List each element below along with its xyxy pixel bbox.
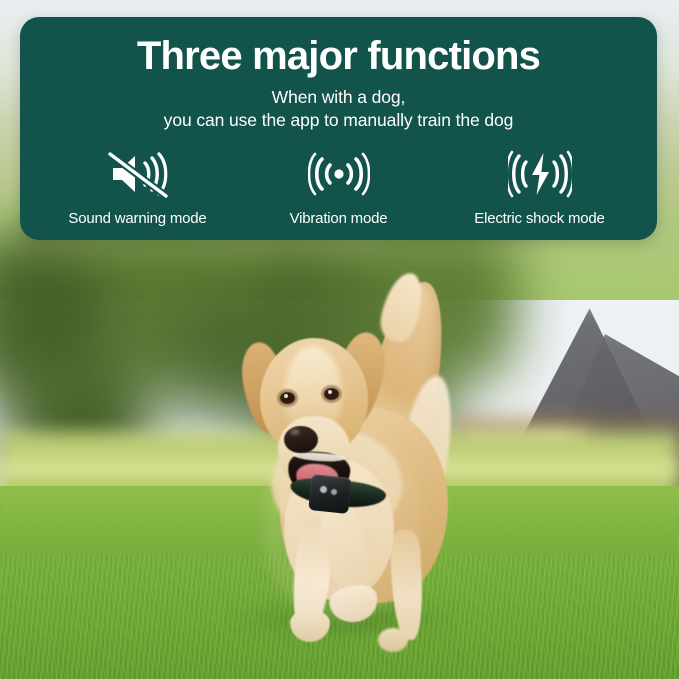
collar-receiver-unit bbox=[308, 474, 352, 514]
mode-label-vibration: Vibration mode bbox=[290, 210, 388, 227]
dog-nose-highlight bbox=[290, 429, 300, 435]
subtitle-line-2: you can use the app to manually train th… bbox=[164, 109, 514, 132]
mode-label-electric-shock: Electric shock mode bbox=[474, 210, 604, 227]
product-image: Three major functions When with a dog, y… bbox=[0, 0, 679, 679]
dog-eye-highlight-right bbox=[328, 390, 332, 394]
mode-list: Sound warning mode bbox=[20, 149, 657, 227]
mode-item-sound-warning: Sound warning mode bbox=[50, 149, 225, 227]
page-title: Three major functions bbox=[137, 35, 540, 77]
collar-contact-point-right bbox=[331, 489, 337, 495]
subtitle-line-1: When with a dog, bbox=[164, 86, 514, 109]
dog-eye-highlight-left bbox=[284, 394, 288, 398]
lightning-bolt-waves-icon bbox=[508, 149, 572, 199]
mode-item-vibration: Vibration mode bbox=[251, 149, 426, 227]
feature-card: Three major functions When with a dog, y… bbox=[20, 17, 657, 240]
dog-nose bbox=[284, 426, 318, 453]
subtitle-block: When with a dog, you can use the app to … bbox=[164, 86, 514, 133]
collar-contact-point-left bbox=[320, 486, 327, 493]
mode-label-sound-warning: Sound warning mode bbox=[68, 210, 206, 227]
mode-item-electric-shock: Electric shock mode bbox=[452, 149, 627, 227]
vibration-waves-icon bbox=[308, 149, 370, 199]
golden-retriever bbox=[232, 280, 492, 625]
muted-speaker-icon bbox=[107, 149, 169, 199]
dog-paw-rear bbox=[378, 628, 408, 652]
